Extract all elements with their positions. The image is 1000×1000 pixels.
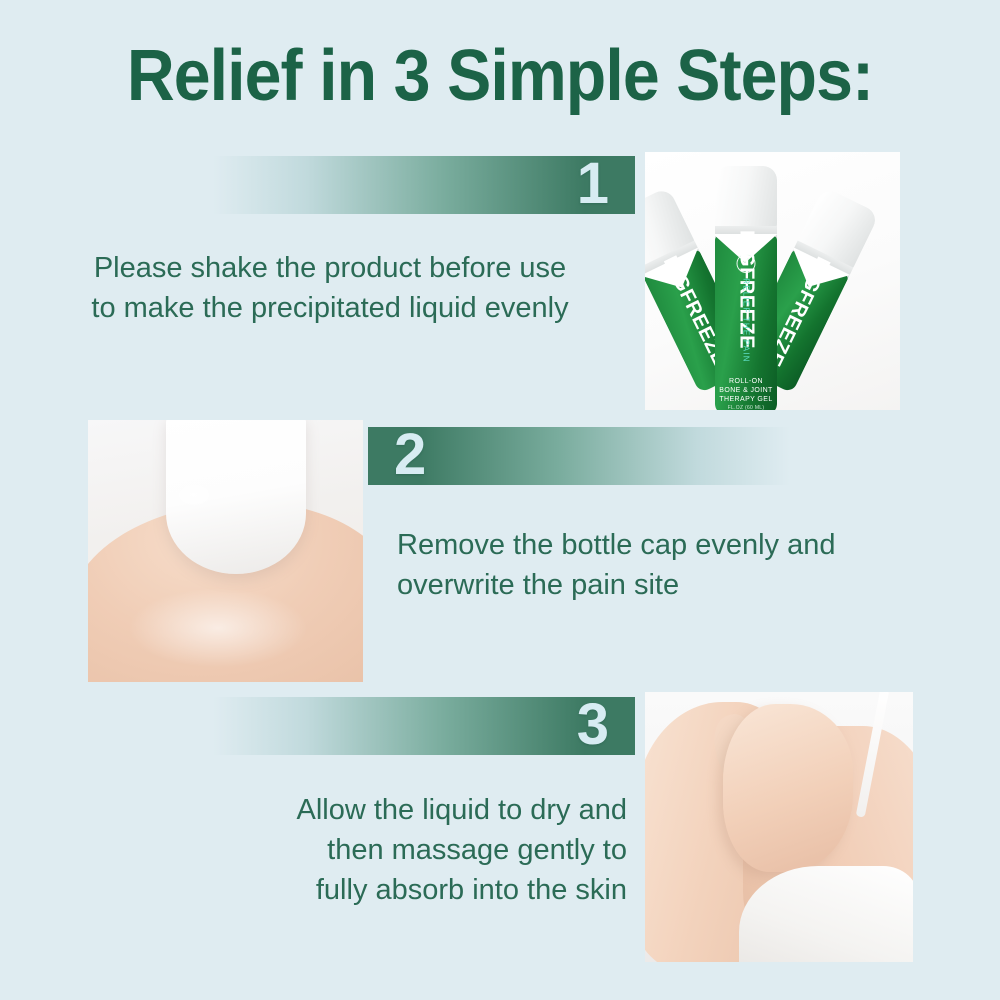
bottle-type-line3: THERAPY GEL: [715, 395, 777, 404]
step-3-image: [645, 692, 913, 962]
bottle-cap-icon: [715, 166, 777, 230]
bottle-type-line2: BONE & JOINT: [715, 386, 777, 395]
page-title: Relief in 3 Simple Steps:: [40, 36, 960, 116]
step-2-number: 2: [394, 426, 426, 484]
step-2-image: [88, 420, 363, 682]
step-3-banner: 3: [213, 697, 635, 755]
step-2-text: Remove the bottle cap evenly and overwri…: [397, 525, 927, 605]
product-bottle-center: ✓ BIGFREEZE RELIEF THE PAIN ROLL-ON BONE…: [715, 166, 777, 410]
bottle-type-text: ROLL-ON BONE & JOINT THERAPY GEL: [715, 377, 777, 404]
bottle-tagline-text: RELIEF THE PAIN: [742, 278, 751, 362]
step-2-banner: 2: [368, 427, 790, 485]
step-1-text: Please shake the product before use to m…: [50, 248, 610, 328]
roller-highlight: [174, 482, 214, 508]
step-1-number: 1: [577, 155, 609, 213]
infographic-poster: Relief in 3 Simple Steps: 1 Please shake…: [0, 0, 1000, 1000]
bottle-type-line1: ROLL-ON: [715, 377, 777, 386]
step-3-text: Allow the liquid to dry and then massage…: [75, 790, 627, 910]
step-3-number: 3: [577, 696, 609, 754]
step-1-banner: 1: [213, 156, 635, 214]
massaging-hand: [723, 704, 853, 872]
step-1-image: BIGFREEZE BIGFREEZE ✓ BIGFREEZE RELIEF T…: [645, 152, 900, 410]
bottle-volume-text: FL.OZ (60 ML): [715, 405, 777, 410]
gel-sheen: [128, 588, 308, 668]
